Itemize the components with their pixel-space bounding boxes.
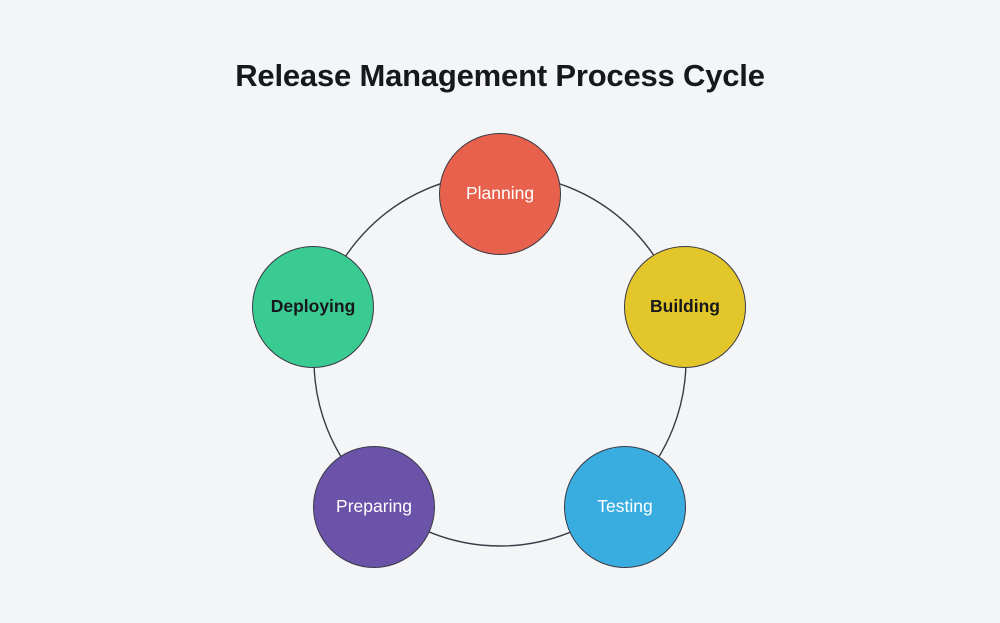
cycle-node-label-deploying: Deploying [271, 298, 356, 316]
cycle-node-preparing[interactable]: Preparing [313, 446, 435, 568]
cycle-node-building[interactable]: Building [624, 246, 746, 368]
cycle-node-testing[interactable]: Testing [564, 446, 686, 568]
cycle-node-planning[interactable]: Planning [439, 133, 561, 255]
cycle-node-deploying[interactable]: Deploying [252, 246, 374, 368]
cycle-node-label-planning: Planning [466, 185, 534, 203]
cycle-node-label-preparing: Preparing [336, 498, 412, 516]
cycle-diagram [0, 0, 1000, 623]
cycle-node-label-testing: Testing [597, 498, 652, 516]
cycle-node-label-building: Building [650, 298, 720, 316]
diagram-canvas: Release Management Process Cycle Plannin… [0, 0, 1000, 623]
